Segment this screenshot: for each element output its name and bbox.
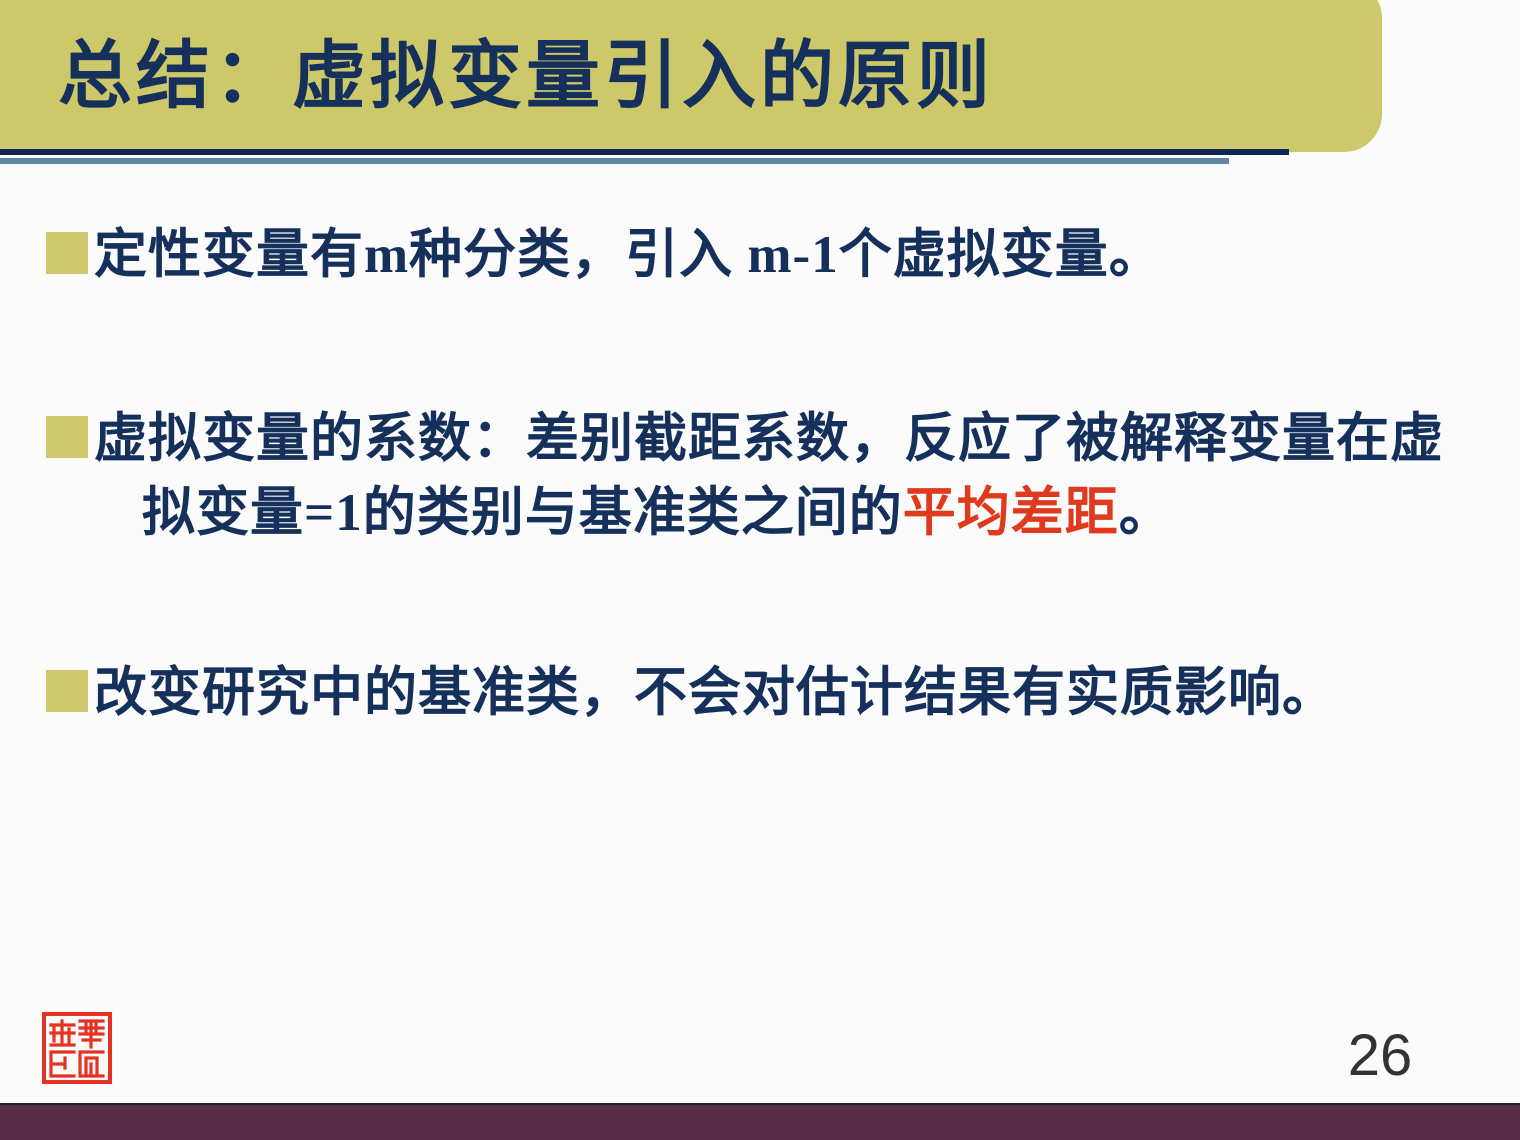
- accent-phrase: 平均差距: [903, 484, 1119, 542]
- divider-rule-steel: [0, 158, 1229, 164]
- seal-stamp-icon: [42, 1012, 112, 1084]
- bullet-line: 虚拟变量的系数：差别截距系数，反应了被解释变量在虚: [94, 402, 1486, 476]
- square-bullet-icon: [46, 416, 88, 458]
- divider-rule-navy: [0, 149, 1289, 155]
- bullet-item-2: 虚拟变量的系数：差别截距系数，反应了被解释变量在虚 拟变量=1的类别与基准类之间…: [46, 402, 1486, 550]
- square-bullet-icon: [46, 232, 88, 274]
- bullet-line: 拟变量=1的类别与基准类之间的平均差距。: [94, 476, 1486, 550]
- bullet-line: 改变研究中的基准类，不会对估计结果有实质影响。: [94, 656, 1486, 730]
- bullet-line-lead: 拟变量=1的类别与基准类之间的: [142, 484, 903, 542]
- bullet-item-1: 定性变量有m种分类，引入 m-1个虚拟变量。: [46, 218, 1486, 292]
- bullet-line-tail: 。: [1119, 484, 1173, 542]
- page-title: 总结：虚拟变量引入的原则: [58, 24, 1358, 130]
- square-bullet-icon: [46, 670, 88, 712]
- bullet-line: 定性变量有m种分类，引入 m-1个虚拟变量。: [94, 218, 1486, 292]
- bullet-item-3: 改变研究中的基准类，不会对估计结果有实质影响。: [46, 656, 1486, 730]
- page-number: 26: [1320, 1022, 1440, 1089]
- bullet-item-3-text: 改变研究中的基准类，不会对估计结果有实质影响。: [94, 656, 1486, 730]
- presentation-slide: 总结：虚拟变量引入的原则 定性变量有m种分类，引入 m-1个虚拟变量。 虚拟变量…: [0, 0, 1520, 1140]
- footer-bar: [0, 1103, 1520, 1140]
- bullet-item-2-text: 虚拟变量的系数：差别截距系数，反应了被解释变量在虚 拟变量=1的类别与基准类之间…: [94, 402, 1486, 550]
- bullet-item-1-text: 定性变量有m种分类，引入 m-1个虚拟变量。: [94, 218, 1486, 292]
